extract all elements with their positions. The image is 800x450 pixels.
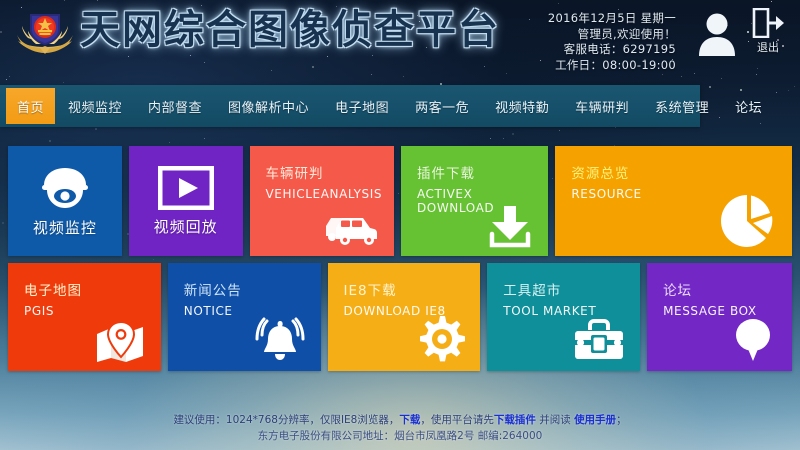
gear-icon <box>418 315 466 363</box>
police-emblem-icon <box>14 8 76 60</box>
user-avatar-icon[interactable] <box>696 10 738 56</box>
bell-icon <box>253 317 307 363</box>
cars-icon <box>322 210 380 248</box>
nav-item-9[interactable]: 论坛 <box>722 85 775 127</box>
tile-label-cn: 视频监控 <box>33 217 97 238</box>
footer-line-1: 建议使用：1024*768分辨率，仅限IE8浏览器，下载，使用平台请先下载插件 … <box>0 412 800 428</box>
tile-download-ie8[interactable]: IE8下载DOWNLOAD IE8 <box>328 263 481 371</box>
page-title: 天网综合图像侦查平台 <box>80 4 500 56</box>
nav-list: 首页视频监控内部督查图像解析中心电子地图两客一危视频特勤车辆研判系统管理论坛 <box>0 85 700 127</box>
logout-button[interactable]: 退出 <box>746 8 790 55</box>
footer-line-2: 东方电子股份有限公司地址：烟台市凤凰路2号 邮编:264000 <box>0 428 800 444</box>
tile-message-box[interactable]: 论坛MESSAGE BOX <box>647 263 792 371</box>
footer-text-c: 并阅读 <box>536 414 574 426</box>
footer-text-d: ； <box>616 414 627 426</box>
tile-activex-download[interactable]: 插件下载ACTIVEX DOWNLOAD <box>401 146 548 256</box>
tile-label-cn: 车辆研判 <box>266 162 394 182</box>
tile-label-en: NOTICE <box>184 304 321 318</box>
nav-item-6[interactable]: 视频特勤 <box>482 85 562 127</box>
welcome-message: 管理员,欢迎使用！ <box>548 27 676 43</box>
footer-text-a: 建议使用：1024*768分辨率，仅限IE8浏览器， <box>173 414 399 426</box>
tile-notice[interactable]: 新闻公告NOTICE <box>168 263 321 371</box>
header-info-block: 2016年12月5日 星期一 管理员,欢迎使用！ 客服电话：6297195 工作… <box>548 11 676 73</box>
tile-vehicleanalysis[interactable]: 车辆研判VEHICLEANALYSIS <box>250 146 394 256</box>
logout-door-icon <box>751 8 785 38</box>
nav-item-3[interactable]: 图像解析中心 <box>215 85 322 127</box>
download-arrow-icon <box>486 204 534 248</box>
nav-item-4[interactable]: 电子地图 <box>322 85 402 127</box>
tile-grid: 视频监控 视频回放车辆研判VEHICLEANALYSIS 插件下载ACTIVEX… <box>8 146 792 378</box>
desktop-portal: 天网综合图像侦查平台 2016年12月5日 星期一 管理员,欢迎使用！ 客服电话… <box>0 0 800 450</box>
tile-label-cn: 资源总览 <box>571 162 792 182</box>
pie-chart-icon <box>720 192 778 248</box>
tile-row: 电子地图PGIS 新闻公告NOTICE IE8下载DOWNLOAD IE8 工具… <box>8 263 792 371</box>
main-navigation[interactable]: 首页视频监控内部督查图像解析中心电子地图两客一危视频特勤车辆研判系统管理论坛 <box>0 85 700 127</box>
toolbox-icon <box>572 319 626 363</box>
tile-label-en: TOOL MARKET <box>503 304 640 318</box>
tile-label-cn: 电子地图 <box>24 279 161 299</box>
tile-label-cn: 视频回放 <box>154 216 218 237</box>
nav-item-8[interactable]: 系统管理 <box>642 85 722 127</box>
tile-item-0[interactable]: 视频监控 <box>8 146 122 256</box>
logout-label: 退出 <box>746 39 790 55</box>
page-footer: 建议使用：1024*768分辨率，仅限IE8浏览器，下载，使用平台请先下载插件 … <box>0 412 800 444</box>
tile-label-cn: 新闻公告 <box>184 279 321 299</box>
tile-label-en: VEHICLEANALYSIS <box>266 187 394 201</box>
user-manual-link[interactable]: 使用手册 <box>574 414 616 426</box>
tile-label-cn: 论坛 <box>663 279 792 299</box>
speech-bubble-icon <box>728 313 778 363</box>
service-phone: 客服电话：6297195 <box>548 42 676 58</box>
footer-text-b: ，使用平台请先 <box>420 414 494 426</box>
tile-row: 视频监控 视频回放车辆研判VEHICLEANALYSIS 插件下载ACTIVEX… <box>8 146 792 256</box>
tile-label-cn: 插件下载 <box>417 162 548 182</box>
current-date: 2016年12月5日 星期一 <box>548 11 676 27</box>
tile-item-1[interactable]: 视频回放 <box>129 146 243 256</box>
tile-label-cn: IE8下载 <box>344 279 481 299</box>
tile-tool-market[interactable]: 工具超市TOOL MARKET <box>487 263 640 371</box>
nav-item-5[interactable]: 两客一危 <box>402 85 482 127</box>
download-link[interactable]: 下载 <box>399 414 420 426</box>
tile-label-en: PGIS <box>24 304 161 318</box>
tile-pgis[interactable]: 电子地图PGIS <box>8 263 161 371</box>
workday-hours: 工作日：08:00-19:00 <box>548 58 676 74</box>
download-plugin-link[interactable]: 下载插件 <box>494 414 536 426</box>
nav-item-7[interactable]: 车辆研判 <box>562 85 642 127</box>
nav-item-1[interactable]: 视频监控 <box>55 85 135 127</box>
map-pin-icon <box>95 321 147 363</box>
tile-label-cn: 工具超市 <box>503 279 640 299</box>
tile-resource[interactable]: 资源总览RESOURCE <box>555 146 792 256</box>
nav-item-0[interactable]: 首页 <box>6 88 55 124</box>
page-header: 天网综合图像侦查平台 2016年12月5日 星期一 管理员,欢迎使用！ 客服电话… <box>0 0 800 84</box>
dome-camera-icon <box>38 165 92 211</box>
video-playback-icon <box>158 166 214 210</box>
nav-item-2[interactable]: 内部督查 <box>135 85 215 127</box>
